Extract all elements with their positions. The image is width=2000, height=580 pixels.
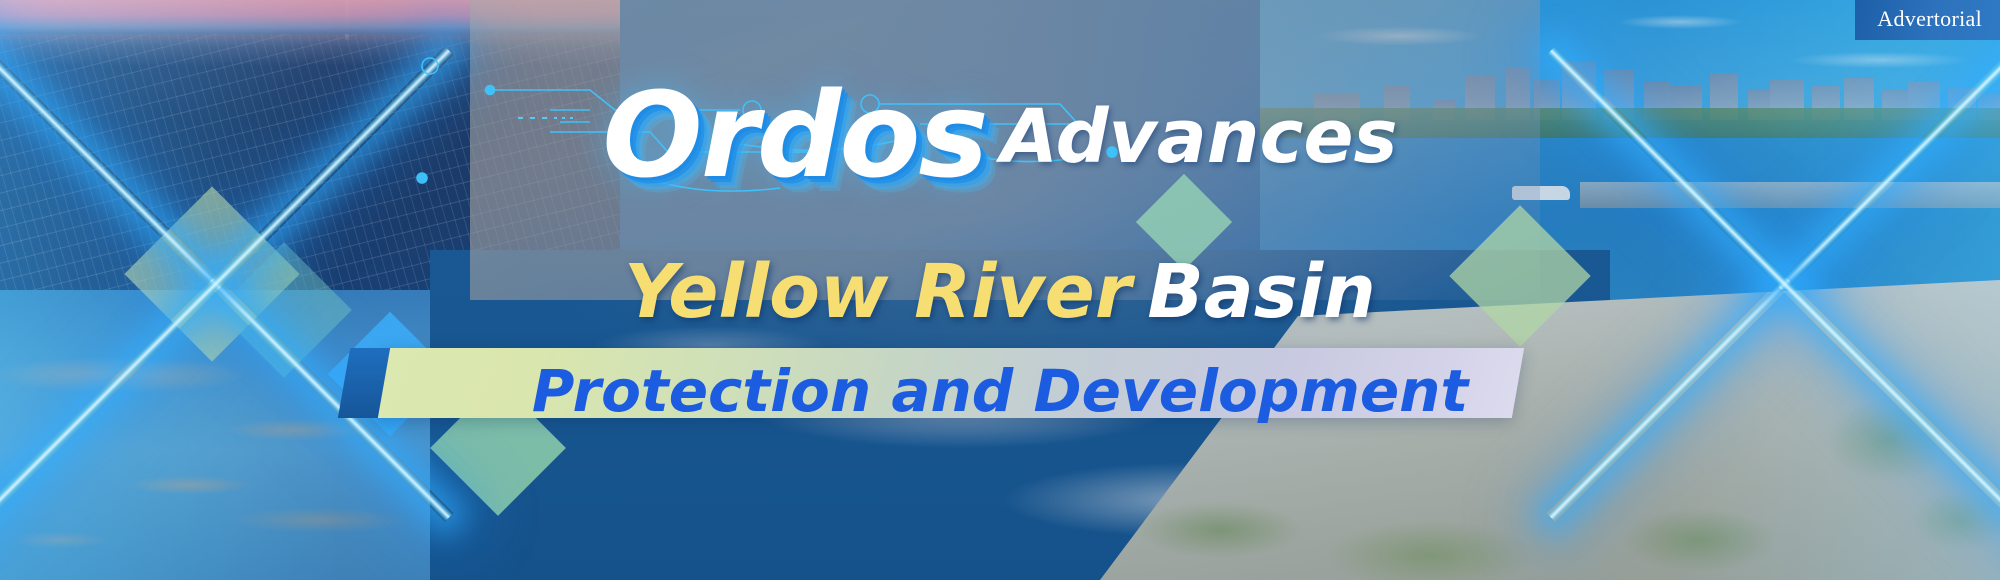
ordos-advertorial-banner: OrdosAdvances Yellow RiverBasin Protecti… [0,0,2000,580]
river-boat [1512,186,1570,200]
riverside-greenbelt [1260,108,2000,142]
transmission-mast [345,0,349,40]
subtitle-banner-bar [372,348,1524,418]
advertorial-badge: Advertorial [1855,0,2000,40]
horizon-haze [0,24,620,46]
background-collage [0,0,2000,580]
river-quay [1580,182,2000,208]
